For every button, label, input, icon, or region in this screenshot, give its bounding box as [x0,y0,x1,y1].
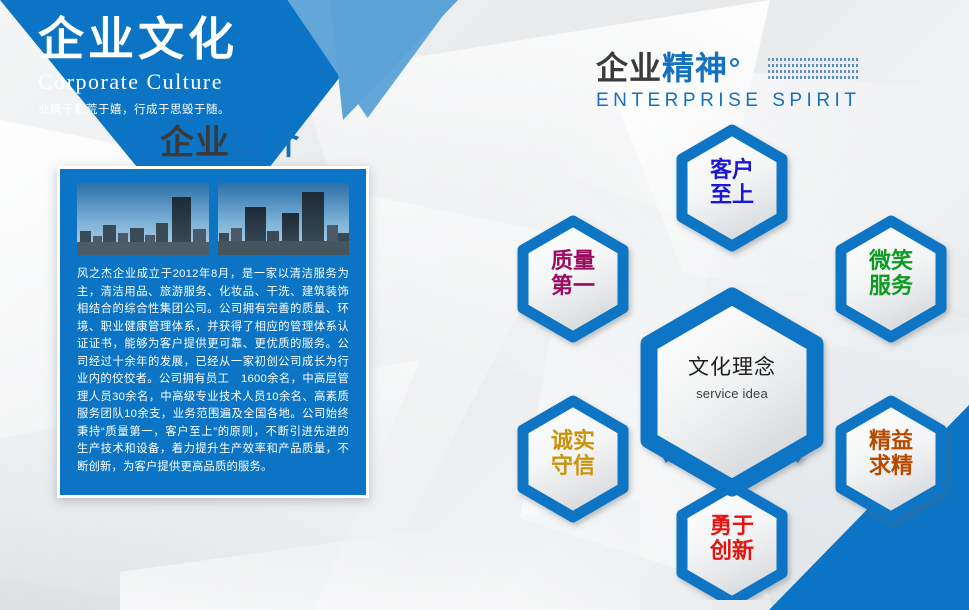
photo-row [77,183,349,255]
hexagon-label-center: 文化理念 service idea [642,356,822,401]
city-photo-1 [77,183,209,255]
hexagon-label-quality-first: 质量 第一 [518,249,628,298]
poster-canvas: 企业文化 Corporate Culture 业精于勤荒于嬉，行成于思毁于随。 … [0,0,969,610]
circle-dot-icon [730,58,739,67]
hexagon-label-line2: 守信 [518,454,628,479]
company-intro-text: 风之杰企业成立于2012年8月，是一家以清洁服务为主，清洁用品、旅游服务、化妆品… [77,266,349,476]
hexagon-label-line2: 求精 [836,454,946,479]
header-title-cn: 企业文化 [38,14,338,67]
intro-title-blue: 简介 [230,124,300,162]
hexagon-label-excellence: 精益 求精 [836,429,946,478]
center-label-cn: 文化理念 [642,356,822,380]
hexagon-label-integrity: 诚实 守信 [518,429,628,478]
spirit-title-blue: 精神 [662,50,728,86]
company-intro-card: 风之杰企业成立于2012年8月，是一家以清洁服务为主，清洁用品、旅游服务、化妆品… [57,166,369,498]
hexagon-label-line2: 至上 [677,183,787,208]
header-title-en: Corporate Culture [38,69,338,95]
hexagon-label-line1: 客户 [677,158,787,183]
city-photo-2 [218,183,350,255]
intro-title-dark: 企业 [160,124,230,162]
hexagon-label-line1: 诚实 [518,429,628,454]
hexagon-label-customer-first: 客户 至上 [677,158,787,207]
hexagon-label-line2: 第一 [518,274,628,299]
hexagon-label-line1: 精益 [836,429,946,454]
hexagon-label-line2: 创新 [677,539,787,564]
company-intro-card-inner: 风之杰企业成立于2012年8月，是一家以清洁服务为主，清洁用品、旅游服务、化妆品… [60,169,366,495]
spirit-header: 企业精神 ENTERPRISE SPIRIT [596,52,860,112]
spirit-title-dark: 企业 [596,50,662,86]
hexagon-label-line2: 服务 [836,274,946,299]
poster-header: 企业文化 Corporate Culture 业精于勤荒于嬉，行成于思毁于随。 [38,14,338,117]
culture-hexagon-diagram: 客户 至上 质量 第一 微笑 服务 诚实 守信 精益 求精 勇于 创新 文化理念… [495,118,969,600]
hexagon-label-innovation: 勇于 创新 [677,514,787,563]
hexagon-label-line1: 勇于 [677,514,787,539]
hexagon-label-line1: 质量 [518,249,628,274]
hexagon-label-line1: 微笑 [836,249,946,274]
spirit-title-en: ENTERPRISE SPIRIT [596,90,860,112]
intro-section-title: 企业简介 [160,115,300,164]
center-label-en: service idea [642,387,822,402]
hexagon-label-smile-service: 微笑 服务 [836,249,946,298]
decorative-microtext [768,58,860,82]
